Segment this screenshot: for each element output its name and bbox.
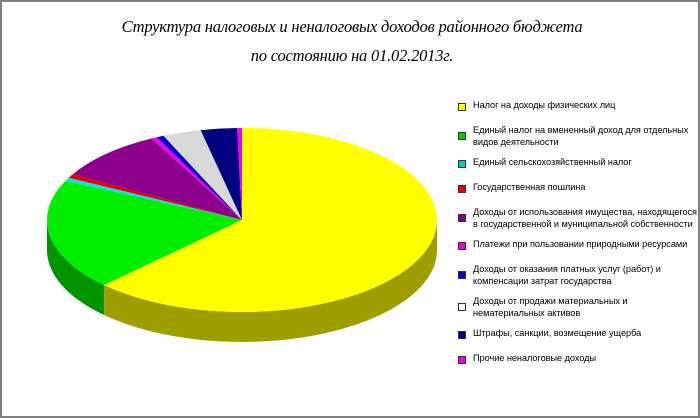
legend-color-swatch-icon <box>458 160 466 168</box>
legend-color-swatch-icon <box>458 242 466 250</box>
pie-chart-svg <box>2 92 452 352</box>
legend-item-label: Прочие неналоговые доходы <box>473 351 596 365</box>
legend-color-swatch-icon <box>458 185 466 193</box>
legend-color-swatch-icon <box>458 331 466 339</box>
legend-item-label: Единый сельскохозяйственный налог <box>473 155 632 169</box>
legend-item[interactable]: Доходы от использования имущества, наход… <box>451 205 699 230</box>
pie-chart-plot <box>2 92 452 352</box>
chart-legend: Налог на доходы физических лицЕдиный нал… <box>451 98 699 376</box>
pie-chart-screenshot: Структура налоговых и неналоговых доходо… <box>0 0 700 418</box>
legend-color-swatch-icon <box>458 214 466 222</box>
legend-color-swatch-icon <box>458 356 466 364</box>
legend-swatch-cell <box>451 356 473 364</box>
legend-item[interactable]: Единый налог на вмененный доход для отде… <box>451 123 699 148</box>
legend-item-label: Государственная пошлина <box>473 180 585 194</box>
legend-swatch-cell <box>451 185 473 193</box>
legend-color-swatch-icon <box>458 271 466 279</box>
legend-item-label: Платежи при пользовании природными ресур… <box>473 237 687 251</box>
title-line-2: по состоянию на 01.02.2013г. <box>62 41 642 70</box>
legend-color-swatch-icon <box>458 132 466 140</box>
legend-item-label: Доходы от продажи материальных и нематер… <box>473 294 699 319</box>
legend-item[interactable]: Налог на доходы физических лиц <box>451 98 699 116</box>
legend-item[interactable]: Платежи при пользовании природными ресур… <box>451 237 699 255</box>
page-title: Структура налоговых и неналоговых доходо… <box>62 12 642 70</box>
title-line-1: Структура налоговых и неналоговых доходо… <box>62 12 642 41</box>
pie-top-slices <box>47 128 437 312</box>
legend-color-swatch-icon <box>458 303 466 311</box>
legend-swatch-cell <box>451 103 473 111</box>
legend-swatch-cell <box>451 132 473 140</box>
legend-item[interactable]: Доходы от оказания платных услуг (работ)… <box>451 262 699 287</box>
legend-swatch-cell <box>451 303 473 311</box>
legend-swatch-cell <box>451 214 473 222</box>
legend-swatch-cell <box>451 160 473 168</box>
legend-item-label: Налог на доходы физических лиц <box>473 98 615 112</box>
legend-swatch-cell <box>451 331 473 339</box>
legend-item-label: Штрафы, санкции, возмещение ущерба <box>473 326 641 340</box>
legend-item[interactable]: Прочие неналоговые доходы <box>451 351 699 369</box>
legend-item[interactable]: Единый сельскохозяйственный налог <box>451 155 699 173</box>
legend-item[interactable]: Доходы от продажи материальных и нематер… <box>451 294 699 319</box>
legend-item[interactable]: Государственная пошлина <box>451 180 699 198</box>
legend-item-label: Доходы от использования имущества, наход… <box>473 205 699 230</box>
legend-color-swatch-icon <box>458 103 466 111</box>
legend-item-label: Доходы от оказания платных услуг (работ)… <box>473 262 699 287</box>
legend-swatch-cell <box>451 242 473 250</box>
legend-item[interactable]: Штрафы, санкции, возмещение ущерба <box>451 326 699 344</box>
legend-item-label: Единый налог на вмененный доход для отде… <box>473 123 699 148</box>
legend-swatch-cell <box>451 271 473 279</box>
